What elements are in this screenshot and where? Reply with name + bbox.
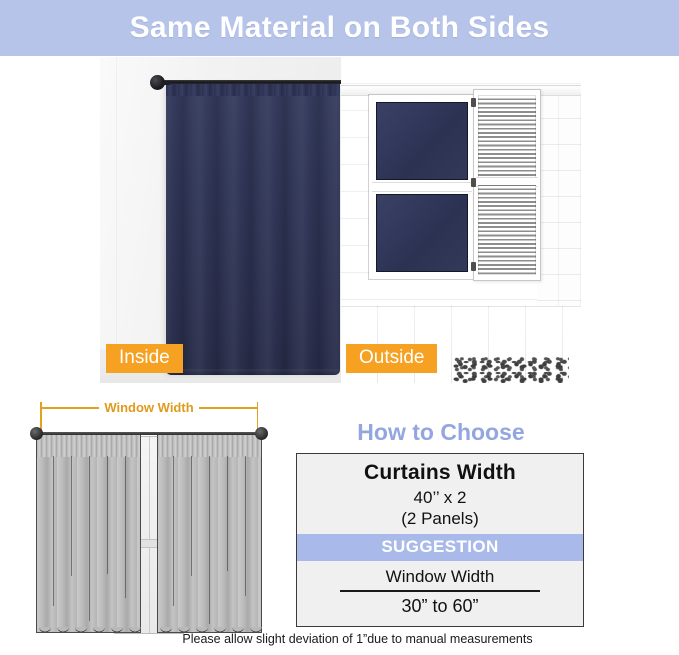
curtains-width-value: 40’’ x 2 [297, 487, 583, 508]
shrub-foliage [453, 357, 569, 383]
shutter-hinge-icon [471, 262, 476, 271]
photo-inside: Inside [100, 57, 341, 383]
curtains-width-label: Curtains Width [297, 454, 583, 487]
shutter-louvers-top [478, 95, 536, 179]
exterior-window-frame [369, 95, 475, 279]
shutter-louvers-bottom [478, 185, 536, 275]
diagram-curtain-rod [38, 432, 260, 435]
dimension-label-wrapper: Window Width [26, 398, 272, 416]
how-to-choose-section: How to Choose Curtains Width 40’’ x 2 (2… [296, 420, 586, 627]
rod-finial-icon [150, 75, 165, 90]
dimension-label-text: Window Width [99, 400, 198, 415]
diagram-panel-left-header [36, 434, 141, 457]
panels-note: (2 Panels) [297, 508, 583, 534]
curtain-rod-pocket [166, 83, 340, 96]
how-to-choose-title: How to Choose [296, 420, 586, 445]
curtain-hem [166, 369, 340, 375]
louvered-shutter [473, 89, 541, 281]
navy-curtain-panel [166, 83, 340, 375]
diagram-finial-left-icon [30, 427, 43, 440]
diagram-panel-left-hem [36, 627, 141, 639]
diagram-panel-left [36, 434, 141, 633]
diagram-panel-right [157, 434, 262, 633]
badge-inside: Inside [106, 344, 183, 373]
badge-outside: Outside [346, 344, 437, 373]
window-pane-top [376, 102, 468, 180]
curtain-rod [158, 80, 341, 84]
window-pane-bottom [376, 194, 468, 272]
infographic-page: Same Material on Both Sides Inside [0, 0, 679, 655]
exterior-brick-wall [537, 93, 581, 313]
shutter-hinge-icon [471, 98, 476, 107]
window-width-range: 30” to 60” [297, 592, 583, 626]
suggestion-band: SUGGESTION [297, 534, 583, 561]
shutter-hinge-icon [471, 178, 476, 187]
page-title: Same Material on Both Sides [130, 13, 550, 43]
diagram-finial-right-icon [255, 427, 268, 440]
diagram-panel-right-hem [157, 627, 262, 639]
diagram-panel-right-header [157, 434, 262, 457]
photo-outside: Outside [341, 57, 581, 383]
size-guide-table: Curtains Width 40’’ x 2 (2 Panels) SUGGE… [296, 453, 584, 627]
header-banner: Same Material on Both Sides [0, 0, 679, 56]
window-width-diagram: Window Width [26, 398, 272, 650]
window-width-label: Window Width [297, 561, 583, 590]
photo-comparison-strip: Inside Outside [100, 57, 581, 383]
window-middle-rail [372, 183, 472, 191]
